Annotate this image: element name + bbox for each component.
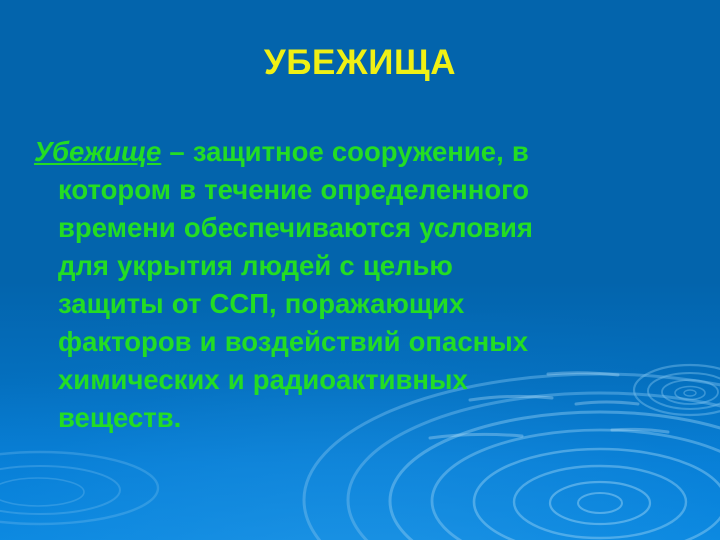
term-separator: – xyxy=(161,136,193,167)
body-text-block: Убежище – защитное сооружение, в котором… xyxy=(34,133,540,437)
defined-term: Убежище xyxy=(34,136,161,167)
definition-paragraph: Убежище – защитное сооружение, в котором… xyxy=(34,133,540,437)
page-title: УБЕЖИЩА xyxy=(0,42,720,84)
definition-text: защитное сооружение, в котором в течение… xyxy=(58,136,533,433)
lead-in-wrapper: Убежище – защитное сооружение, в котором… xyxy=(34,136,533,433)
slide-canvas: УБЕЖИЩА Убежище – защитное сооружение, в… xyxy=(0,0,720,540)
